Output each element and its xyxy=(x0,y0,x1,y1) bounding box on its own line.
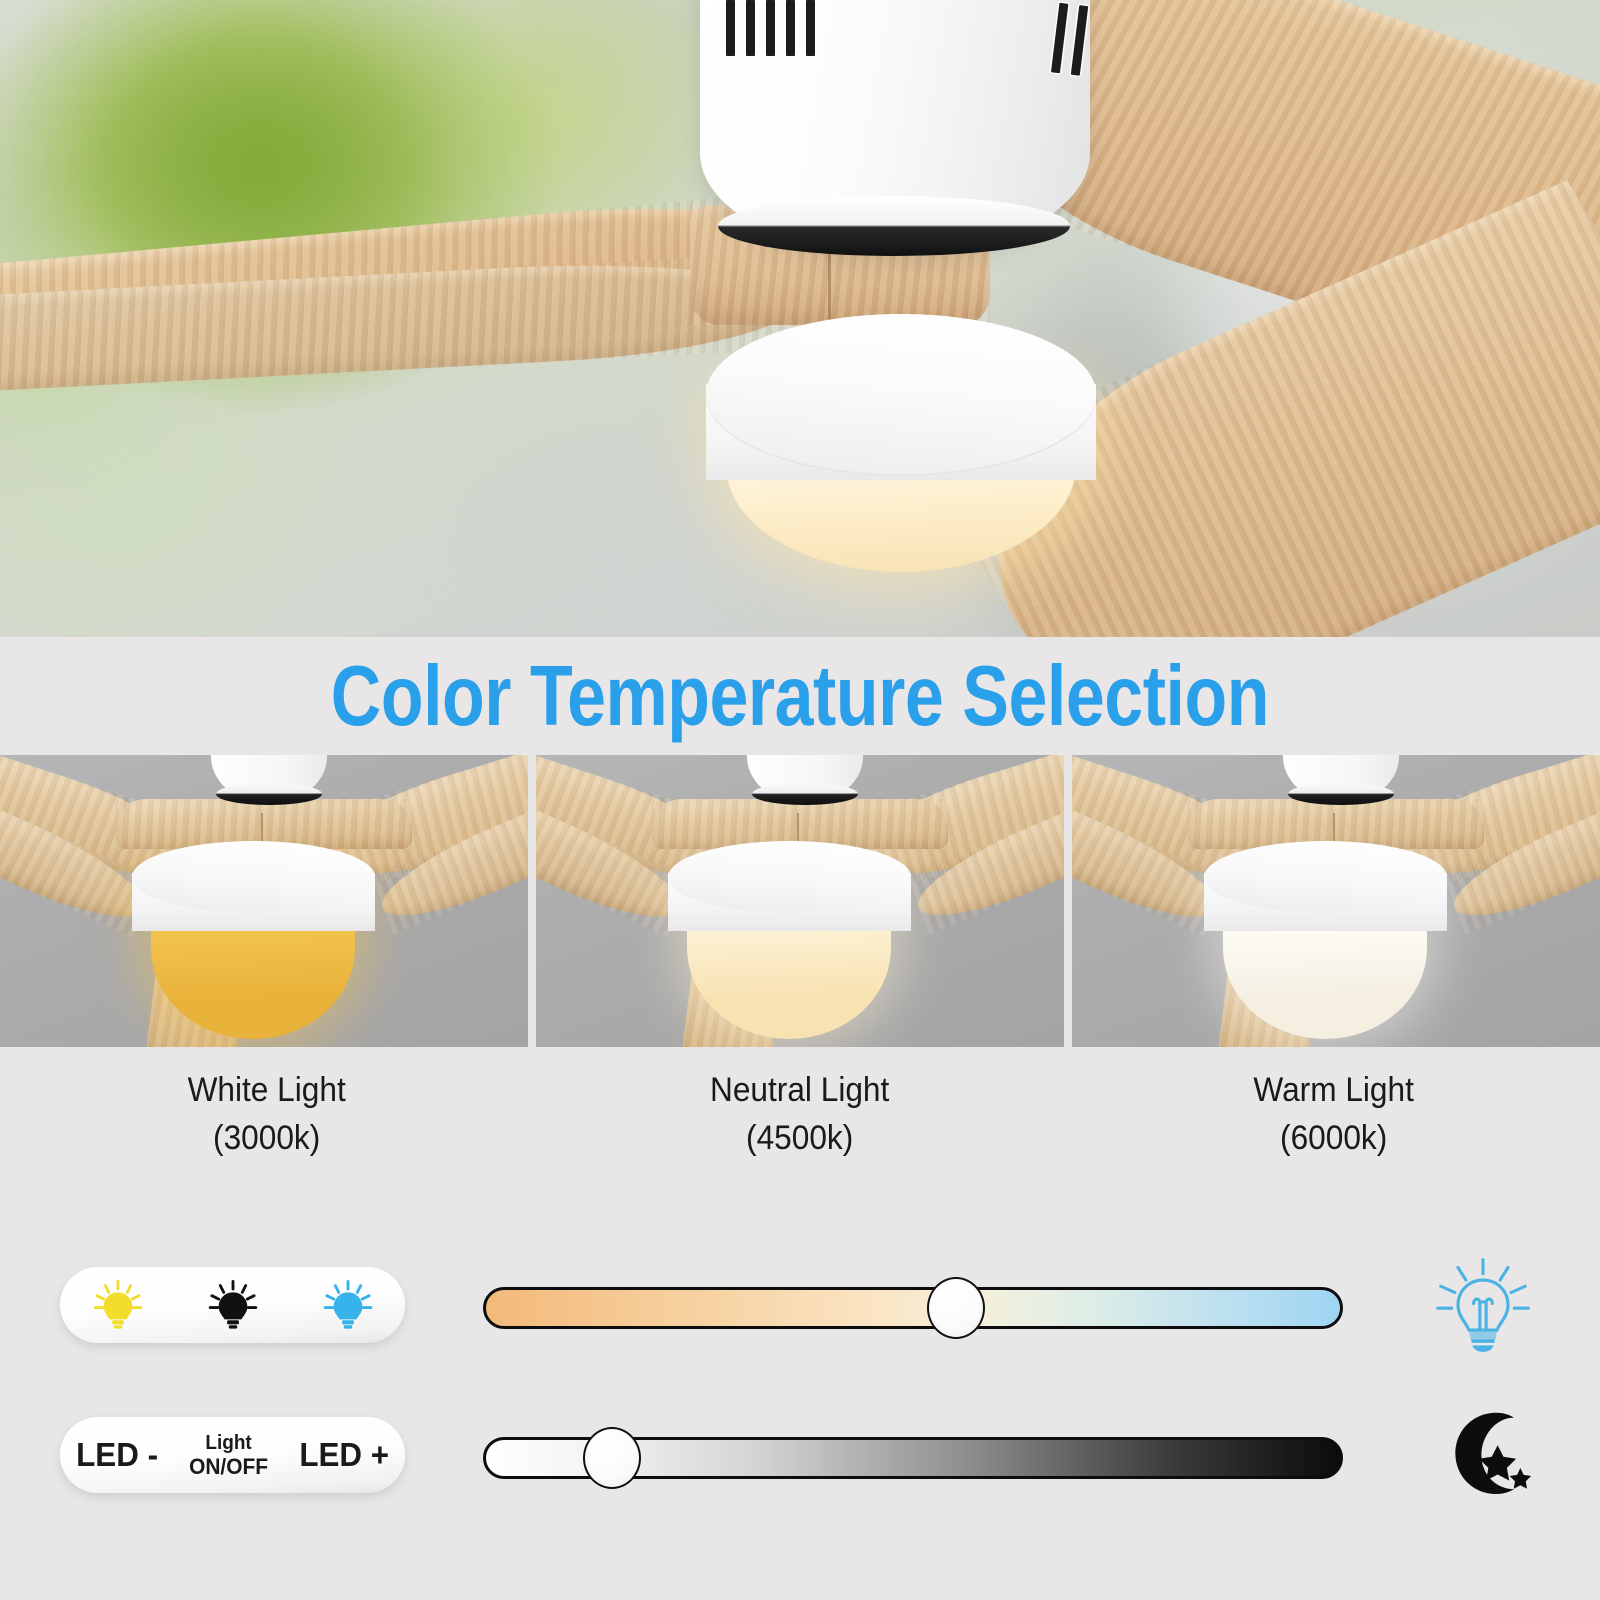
panel-light-fixture xyxy=(668,841,911,1047)
caption-neutral-light: Neutral Light (4500k) xyxy=(533,1066,1066,1186)
caption-kelvin: (6000k) xyxy=(1085,1114,1581,1162)
panel-light-ring xyxy=(668,841,911,913)
caption-title: White Light xyxy=(19,1066,515,1114)
led-brightness-button[interactable]: LED - Light ON/OFF LED + xyxy=(60,1417,405,1493)
caption-kelvin: (3000k) xyxy=(19,1114,515,1162)
moon-stars-icon xyxy=(1431,1403,1535,1507)
light-on-off-label[interactable]: Light ON/OFF xyxy=(187,1431,270,1479)
temperature-slider-track[interactable] xyxy=(483,1287,1343,1329)
page-title: Color Temperature Selection xyxy=(331,647,1269,744)
caption-warm-light: Warm Light (6000k) xyxy=(1067,1066,1600,1186)
panel-warm-light[interactable] xyxy=(1072,755,1600,1047)
motor-vent-slots-left xyxy=(726,0,856,56)
hero-led-light-fixture xyxy=(706,314,1096,582)
caption-title: Warm Light xyxy=(1085,1066,1581,1114)
hero-product-photo xyxy=(0,0,1600,637)
caption-white-light: White Light (3000k) xyxy=(0,1066,533,1186)
bulb-warm-icon[interactable] xyxy=(91,1278,145,1332)
caption-title: Neutral Light xyxy=(552,1066,1048,1114)
title-banner: Color Temperature Selection xyxy=(0,637,1600,755)
panel-white-light[interactable] xyxy=(0,755,528,1047)
moon-night-indicator xyxy=(1428,1400,1538,1510)
bulb-outline-icon xyxy=(1433,1255,1533,1355)
caption-kelvin: (4500k) xyxy=(552,1114,1048,1162)
control-row-color-temperature xyxy=(0,1230,1600,1380)
panel-motor-underside xyxy=(216,783,322,805)
led-plus-label[interactable]: LED + xyxy=(299,1436,389,1474)
panel-motor-underside xyxy=(752,783,858,805)
led-minus-label[interactable]: LED - xyxy=(76,1436,158,1474)
motor-housing-underside xyxy=(718,196,1070,256)
brightness-slider-handle[interactable] xyxy=(583,1427,641,1489)
control-row-brightness: LED - Light ON/OFF LED + xyxy=(0,1380,1600,1530)
bulb-cool-icon[interactable] xyxy=(321,1278,375,1332)
color-temperature-slider[interactable] xyxy=(483,1275,1343,1335)
infographic-page: Color Temperature Selection xyxy=(0,0,1600,1600)
panel-neutral-light[interactable] xyxy=(536,755,1064,1047)
panel-motor-underside xyxy=(1288,783,1394,805)
light-label-line2: ON/OFF xyxy=(189,1455,268,1479)
hero-light-ring xyxy=(706,314,1096,474)
color-temperature-button[interactable] xyxy=(60,1267,405,1343)
light-label-line1: Light xyxy=(189,1431,268,1455)
temperature-slider-handle[interactable] xyxy=(927,1277,985,1339)
panel-light-ring xyxy=(1204,841,1447,913)
bulb-neutral-icon[interactable] xyxy=(206,1278,260,1332)
panel-captions: White Light (3000k) Neutral Light (4500k… xyxy=(0,1066,1600,1186)
color-temperature-panels xyxy=(0,755,1600,1047)
remote-controls-section: LED - Light ON/OFF LED + xyxy=(0,1230,1600,1560)
panel-light-fixture xyxy=(132,841,375,1047)
brightness-slider[interactable] xyxy=(483,1425,1343,1485)
panel-light-ring xyxy=(132,841,375,913)
bulb-outline-indicator xyxy=(1428,1250,1538,1360)
motor-vent-slots-right xyxy=(1051,3,1117,80)
panel-light-fixture xyxy=(1204,841,1447,1047)
